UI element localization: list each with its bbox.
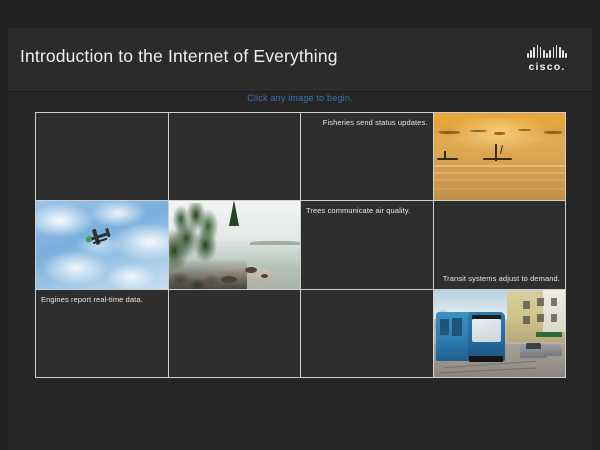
tram-window [440, 319, 449, 335]
grid-cell-r3c4[interactable] [434, 290, 566, 377]
car [543, 345, 563, 356]
window [551, 314, 558, 322]
cisco-logo: cisco. [516, 45, 578, 75]
grid-cell-r1c3[interactable]: Fisheries send status updates. [301, 113, 433, 200]
paddler-figure [444, 151, 446, 160]
photo-forested-coastline [169, 201, 301, 288]
window [537, 298, 544, 306]
window [523, 301, 530, 309]
shop-awning [536, 332, 562, 337]
grid-cell-r2c3[interactable]: Trees communicate air quality. [301, 201, 433, 288]
grid-cell-r1c1[interactable] [36, 113, 168, 200]
cisco-wordmark: cisco. [516, 61, 578, 73]
header-bar: Introduction to the Internet of Everythi… [8, 28, 592, 92]
kayak [437, 158, 458, 160]
paddleboard [483, 158, 512, 160]
rock [245, 267, 257, 273]
building [543, 290, 565, 332]
instruction-text[interactable]: Click any image to begin. [8, 93, 592, 103]
window [523, 316, 530, 324]
tram-skirt [469, 356, 503, 362]
boat-icon [544, 131, 562, 134]
application-frame: Introduction to the Internet of Everythi… [8, 28, 592, 450]
grid-cell-r2c2[interactable] [169, 201, 301, 288]
grid-cell-r3c2[interactable] [169, 290, 301, 377]
grid-cell-r1c2[interactable] [169, 113, 301, 200]
window [537, 314, 544, 322]
grid-cell-r2c4[interactable]: Transit systems adjust to demand. [434, 201, 566, 288]
car-window [526, 343, 542, 349]
cisco-bars-icon [516, 45, 578, 58]
seaplane-icon [80, 222, 118, 250]
boat-icon [439, 131, 460, 134]
tram-window [452, 318, 463, 335]
conifer-tree [229, 201, 239, 225]
grid-cell-r2c1[interactable] [36, 201, 168, 288]
photo-blue-tram-street [434, 290, 566, 377]
photo-seaplane-in-sky [36, 201, 168, 288]
image-grid: Fisheries send status updates. [35, 112, 566, 378]
caption-fisheries: Fisheries send status updates. [323, 119, 428, 127]
caption-engines: Engines report real-time data. [41, 296, 143, 304]
window [551, 298, 558, 306]
grid-cell-r3c3[interactable] [301, 290, 433, 377]
far-shore [250, 241, 300, 245]
grid-cell-r3c1[interactable]: Engines report real-time data. [36, 290, 168, 377]
tram-destination-sign [472, 315, 501, 319]
shore-rocks [169, 259, 248, 289]
boat-icon [494, 132, 505, 135]
sun-glow [447, 118, 552, 153]
grid-cell-r1c4[interactable] [434, 113, 566, 200]
page-title: Introduction to the Internet of Everythi… [20, 46, 338, 67]
caption-transit: Transit systems adjust to demand. [443, 275, 560, 283]
caption-trees: Trees communicate air quality. [306, 207, 410, 215]
photo-sunset-paddleboarders [434, 113, 566, 200]
tram-windshield [472, 319, 501, 342]
paddler-figure [495, 144, 497, 161]
